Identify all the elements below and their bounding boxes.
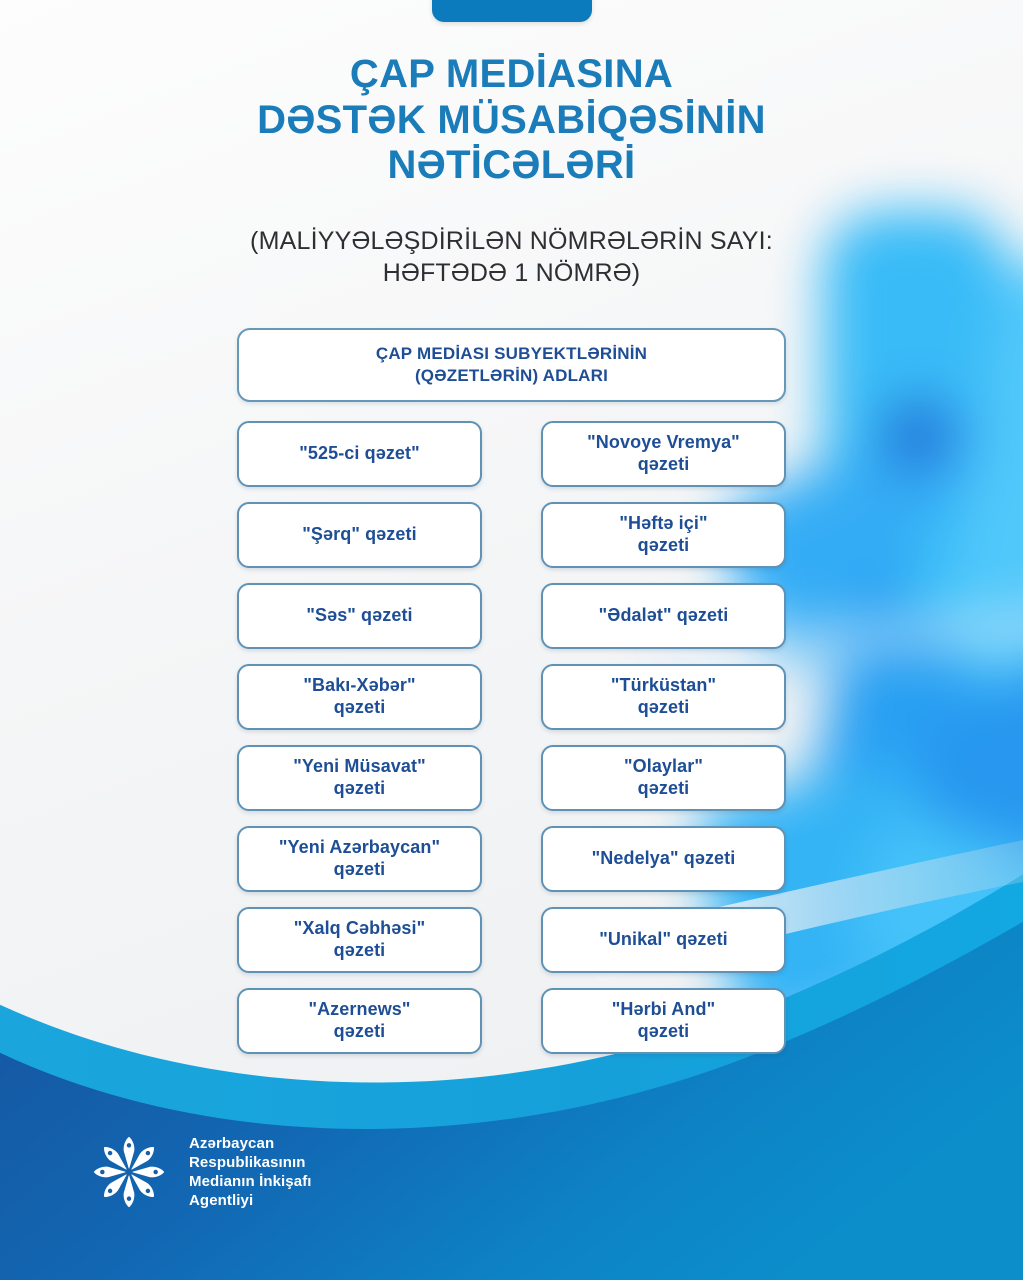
poster-content: ÇAP MEDİASINA DƏSTƏK MÜSABİQƏSİNİN NƏTİC… xyxy=(0,0,1023,1280)
page-title-line-1: ÇAP MEDİASINA xyxy=(0,52,1023,98)
newspaper-name: "Yeni Azərbaycan" qəzeti xyxy=(279,837,440,880)
newspaper-card[interactable]: "Bakı-Xəbər" qəzeti xyxy=(237,664,482,730)
newspaper-name: "Bakı-Xəbər" qəzeti xyxy=(303,675,415,718)
newspaper-name: "Nedelya" qəzeti xyxy=(592,848,736,870)
newspaper-card[interactable]: "Həftə içi" qəzeti xyxy=(541,502,786,568)
newspaper-card[interactable]: "Səs" qəzeti xyxy=(237,583,482,649)
newspaper-card[interactable]: "Hərbi And" qəzeti xyxy=(541,988,786,1054)
agency-logo-lockup: Azərbaycan Respublikasının Medianın İnki… xyxy=(86,1129,312,1215)
agency-rosette-pen-nib-logo-icon xyxy=(86,1129,172,1215)
newspaper-card[interactable]: "Yeni Müsavat" qəzeti xyxy=(237,745,482,811)
page-title-line-2: DƏSTƏK MÜSABİQƏSİNİN xyxy=(0,98,1023,144)
newspaper-grid: "525-ci qəzet" "Novoye Vremya" qəzeti "Ş… xyxy=(237,421,786,1054)
page-subtitle: (MALİYYƏLƏŞDİRİLƏN NÖMRƏLƏRİN SAYI: HƏFT… xyxy=(0,225,1023,289)
page-subtitle-line-1: (MALİYYƏLƏŞDİRİLƏN NÖMRƏLƏRİN SAYI: xyxy=(0,225,1023,257)
agency-name-line-1: Azərbaycan xyxy=(189,1134,312,1153)
newspaper-list-board: ÇAP MEDİASI SUBYEKTLƏRİNİN (QƏZETLƏRİN) … xyxy=(237,328,786,1054)
newspaper-name: "Səs" qəzeti xyxy=(306,605,412,627)
newspaper-name: "Türküstan" qəzeti xyxy=(611,675,716,718)
agency-name-line-4: Agentliyi xyxy=(189,1191,312,1210)
newspaper-name: "Azernews" qəzeti xyxy=(308,999,410,1042)
newspaper-card[interactable]: "Unikal" qəzeti xyxy=(541,907,786,973)
agency-name: Azərbaycan Respublikasının Medianın İnki… xyxy=(189,1134,312,1211)
newspaper-name: "Xalq Cəbhəsi" qəzeti xyxy=(294,918,426,961)
newspaper-card[interactable]: "Şərq" qəzeti xyxy=(237,502,482,568)
newspaper-name: "Ədalət" qəzeti xyxy=(599,605,729,627)
page-title-line-3: NƏTİCƏLƏRİ xyxy=(0,143,1023,189)
newspaper-name: "Hərbi And" qəzeti xyxy=(612,999,716,1042)
page-subtitle-line-2: HƏFTƏDƏ 1 NÖMRƏ) xyxy=(0,257,1023,289)
newspaper-name: "Həftə içi" qəzeti xyxy=(619,513,707,556)
newspaper-card[interactable]: "Xalq Cəbhəsi" qəzeti xyxy=(237,907,482,973)
newspaper-card[interactable]: "525-ci qəzet" xyxy=(237,421,482,487)
newspaper-card[interactable]: "Nedelya" qəzeti xyxy=(541,826,786,892)
newspaper-name: "Olaylar" qəzeti xyxy=(624,756,703,799)
newspaper-name: "Şərq" qəzeti xyxy=(302,524,416,546)
table-header-line-1: ÇAP MEDİASI SUBYEKTLƏRİNİN xyxy=(376,343,647,365)
newspaper-card[interactable]: "Yeni Azərbaycan" qəzeti xyxy=(237,826,482,892)
newspaper-name: "Unikal" qəzeti xyxy=(599,929,728,951)
agency-name-line-3: Medianın İnkişafı xyxy=(189,1172,312,1191)
newspaper-card[interactable]: "Türküstan" qəzeti xyxy=(541,664,786,730)
table-header-card: ÇAP MEDİASI SUBYEKTLƏRİNİN (QƏZETLƏRİN) … xyxy=(237,328,786,402)
page-title: ÇAP MEDİASINA DƏSTƏK MÜSABİQƏSİNİN NƏTİC… xyxy=(0,52,1023,189)
newspaper-name: "525-ci qəzet" xyxy=(299,443,420,465)
newspaper-card[interactable]: "Ədalət" qəzeti xyxy=(541,583,786,649)
newspaper-card[interactable]: "Azernews" qəzeti xyxy=(237,988,482,1054)
newspaper-card[interactable]: "Novoye Vremya" qəzeti xyxy=(541,421,786,487)
table-header-line-2: (QƏZETLƏRİN) ADLARI xyxy=(376,365,647,387)
newspaper-name: "Novoye Vremya" qəzeti xyxy=(587,432,740,475)
top-tab-accent xyxy=(432,0,592,22)
newspaper-card[interactable]: "Olaylar" qəzeti xyxy=(541,745,786,811)
newspaper-name: "Yeni Müsavat" qəzeti xyxy=(293,756,426,799)
agency-name-line-2: Respublikasının xyxy=(189,1153,312,1172)
